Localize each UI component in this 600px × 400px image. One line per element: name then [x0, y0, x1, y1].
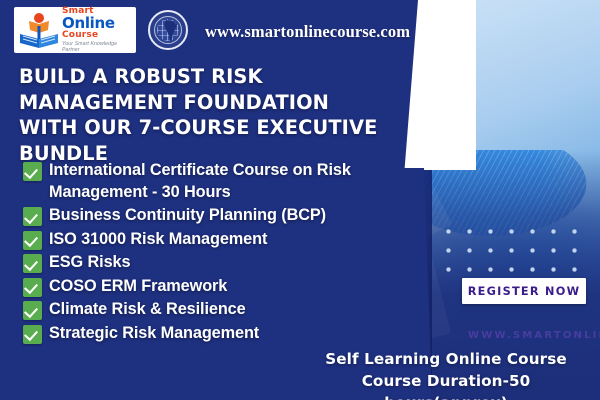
check-icon [23, 231, 42, 250]
list-item-label: Strategic Risk Management [49, 323, 259, 345]
check-icon [23, 162, 42, 181]
certification-seal-icon [148, 10, 188, 50]
promotional-banner: ⚖ 👥 ✈ ❤ 📋 $ 💡 💳 🛡 💰 📖 ⚕ 🚗 👪 🏠 🚚 💼 [0, 0, 600, 400]
list-item-label: International Certificate Course on Risk… [49, 160, 383, 203]
website-url[interactable]: www.smartonlinecourse.com [205, 22, 410, 42]
brand-logo[interactable]: Smart Online Course Your Smart Knowledge… [14, 7, 136, 53]
list-item-label: Climate Risk & Resilience [49, 299, 246, 321]
list-item: ESG Risks [23, 252, 383, 274]
book-person-logo-icon [17, 10, 61, 50]
dot-grid-decoration [438, 222, 588, 278]
check-icon [23, 207, 42, 226]
register-now-button[interactable]: REGISTER NOW [462, 278, 586, 304]
list-item: Climate Risk & Resilience [23, 299, 383, 321]
list-item: ISO 31000 Risk Management [23, 229, 383, 251]
logo-line-course: Course [62, 31, 133, 40]
list-item-label: ESG Risks [49, 252, 130, 274]
check-icon [23, 278, 42, 297]
headline: BUILD A ROBUST RISK MANAGEMENT FOUNDATIO… [19, 64, 387, 166]
logo-wordmark: Smart Online Course Your Smart Knowledge… [61, 7, 133, 53]
list-item: Strategic Risk Management [23, 323, 383, 345]
list-item: International Certificate Course on Risk… [23, 160, 383, 203]
footer-info: Self Learning Online Course Course Durat… [300, 348, 592, 400]
list-item: COSO ERM Framework [23, 276, 383, 298]
course-list: International Certificate Course on Risk… [23, 160, 383, 346]
site-watermark: WWW.SMARTONLINECOURSE.COM [468, 330, 600, 341]
check-icon [23, 325, 42, 344]
list-item-label: COSO ERM Framework [49, 276, 227, 298]
logo-line-online: Online [62, 16, 133, 31]
list-item-label: Business Continuity Planning (BCP) [49, 205, 326, 227]
list-item-label: ISO 31000 Risk Management [49, 229, 267, 251]
footer-line-1: Self Learning Online Course [300, 348, 592, 370]
check-icon [23, 254, 42, 273]
check-icon [23, 301, 42, 320]
list-item: Business Continuity Planning (BCP) [23, 205, 383, 227]
footer-line-2: Course Duration-50 hours(approx) [300, 370, 592, 400]
logo-tagline: Your Smart Knowledge Partner [62, 41, 133, 53]
